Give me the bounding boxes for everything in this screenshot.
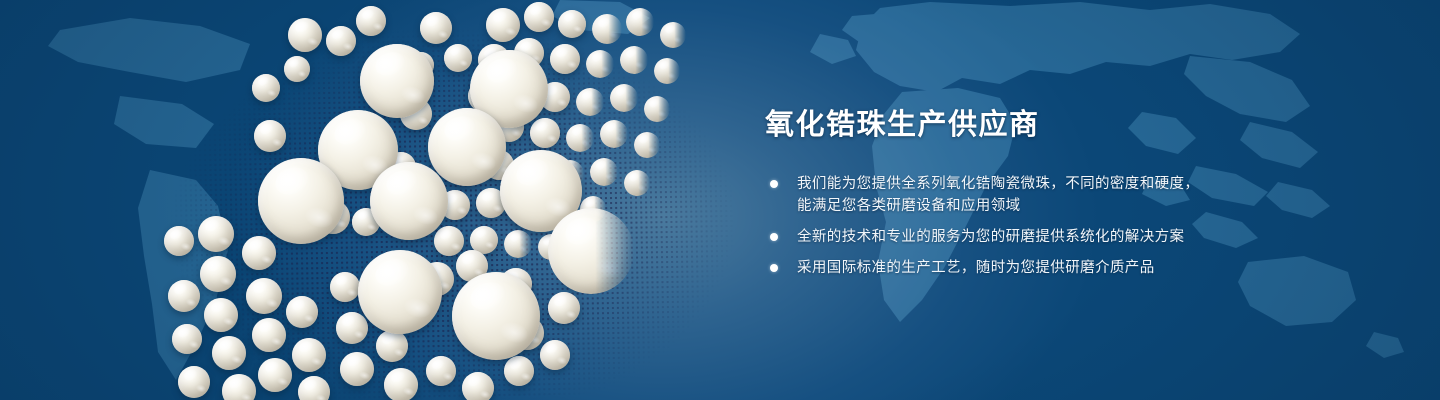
bullet-dot-icon [770,180,778,188]
zirconia-beads-image [0,0,780,400]
list-item: 我们能为您提供全系列氧化锆陶瓷微珠，不同的密度和硬度， 能满足您各类研磨设备和应… [765,173,1365,217]
page-title: 氧化锆珠生产供应商 [765,108,1365,143]
bullet-dot-icon [770,264,778,272]
bullet-dot-icon [770,233,778,241]
hero-banner: 氧化锆珠生产供应商 我们能为您提供全系列氧化锆陶瓷微珠，不同的密度和硬度， 能满… [0,0,1440,400]
list-item: 全新的技术和专业的服务为您的研磨提供系统化的解决方案 [765,226,1365,248]
banner-copy: 氧化锆珠生产供应商 我们能为您提供全系列氧化锆陶瓷微珠，不同的密度和硬度， 能满… [765,108,1365,288]
feature-bullet-list: 我们能为您提供全系列氧化锆陶瓷微珠，不同的密度和硬度， 能满足您各类研磨设备和应… [765,173,1365,279]
bullet-line: 全新的技术和专业的服务为您的研磨提供系统化的解决方案 [797,226,1365,248]
bullet-line: 我们能为您提供全系列氧化锆陶瓷微珠，不同的密度和硬度， [797,173,1365,195]
bullet-line: 能满足您各类研磨设备和应用领域 [797,195,1365,217]
list-item: 采用国际标准的生产工艺，随时为您提供研磨介质产品 [765,257,1365,279]
bullet-line: 采用国际标准的生产工艺，随时为您提供研磨介质产品 [797,257,1365,279]
